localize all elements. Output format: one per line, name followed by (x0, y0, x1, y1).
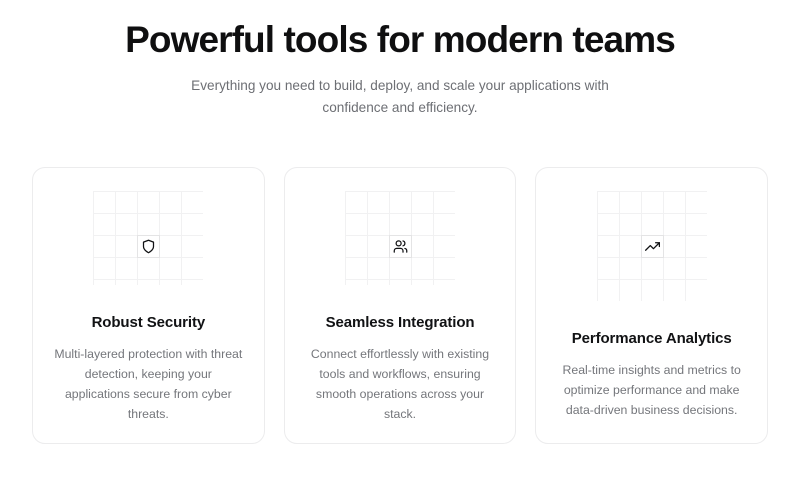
card-description: Real-time insights and metrics to optimi… (555, 361, 749, 421)
page-subtitle: Everything you need to build, deploy, an… (165, 75, 635, 119)
icon-grid-background (93, 191, 203, 285)
icon-cell (389, 235, 412, 258)
icon-grid-background (345, 191, 455, 285)
feature-section-page: Powerful tools for modern teams Everythi… (0, 0, 800, 482)
shield-icon (141, 239, 156, 254)
icon-cell (641, 235, 664, 258)
card-description: Connect effortlessly with existing tools… (303, 345, 497, 425)
users-icon (393, 239, 408, 254)
page-header: Powerful tools for modern teams Everythi… (0, 0, 800, 119)
feature-card-robust-security[interactable]: Robust Security Multi-layered protection… (32, 167, 265, 444)
card-title: Seamless Integration (326, 314, 475, 331)
icon-cell (137, 235, 160, 258)
icon-grid-background (597, 191, 707, 301)
feature-card-list: Robust Security Multi-layered protection… (32, 167, 768, 444)
feature-card-seamless-integration[interactable]: Seamless Integration Connect effortlessl… (284, 167, 517, 444)
card-title: Robust Security (92, 314, 206, 331)
page-title: Powerful tools for modern teams (0, 18, 800, 62)
trending-up-icon (645, 239, 660, 254)
feature-card-performance-analytics[interactable]: Performance Analytics Real-time insights… (535, 167, 768, 444)
card-description: Multi-layered protection with threat det… (51, 345, 245, 425)
card-title: Performance Analytics (572, 330, 732, 347)
